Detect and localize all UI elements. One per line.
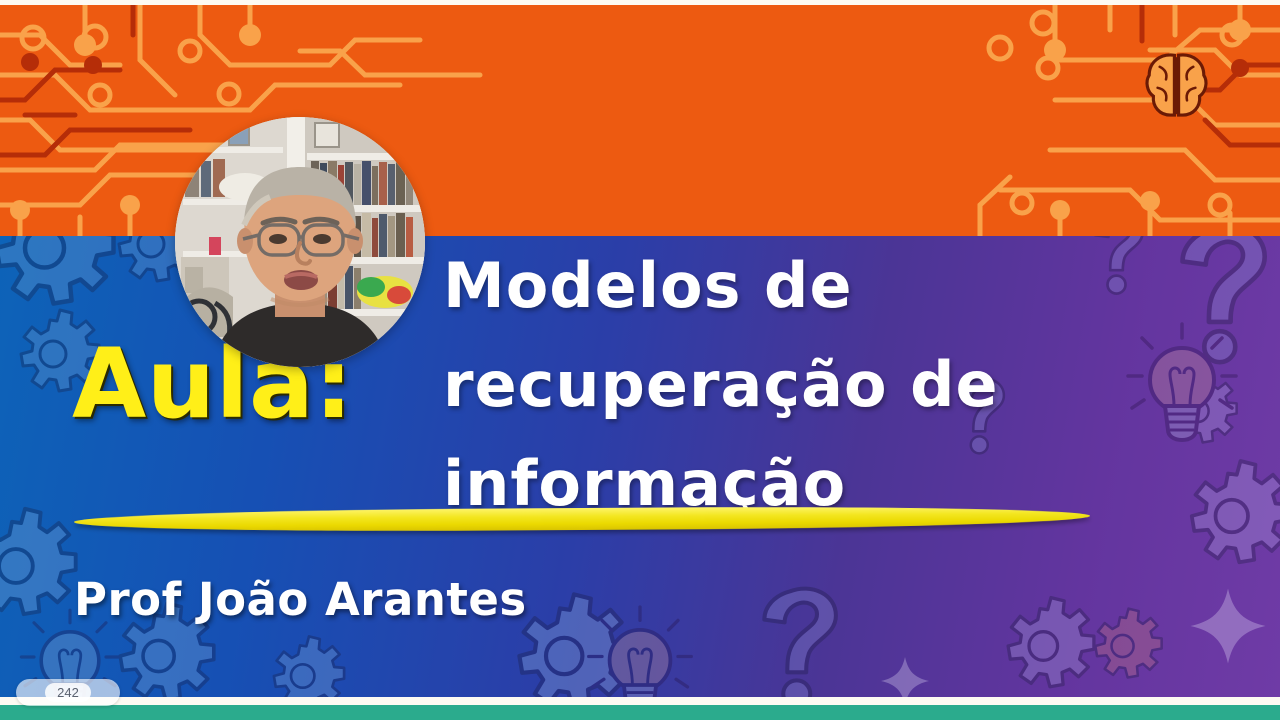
top-letterbox — [0, 0, 1280, 5]
title-line-1: Modelos de — [443, 236, 1083, 335]
title-line-2: recuperação de — [443, 335, 1083, 434]
progress-bar[interactable] — [0, 705, 1280, 720]
slide-counter-value: 242 — [45, 683, 91, 702]
slide-counter-pill[interactable]: 242 — [16, 679, 120, 706]
presenter-video-bubble[interactable] — [175, 117, 425, 367]
presentation-slide: Aula: Modelos de recuperação de informaç… — [0, 5, 1280, 697]
slide-title: Modelos de recuperação de informação — [443, 236, 1083, 533]
webcam-feed — [175, 117, 425, 367]
video-player-stage: Aula: Modelos de recuperação de informaç… — [0, 0, 1280, 720]
bottom-letterbox — [0, 697, 1280, 705]
brain-icon — [1147, 55, 1206, 115]
presenter-name: Prof João Arantes — [74, 577, 527, 622]
